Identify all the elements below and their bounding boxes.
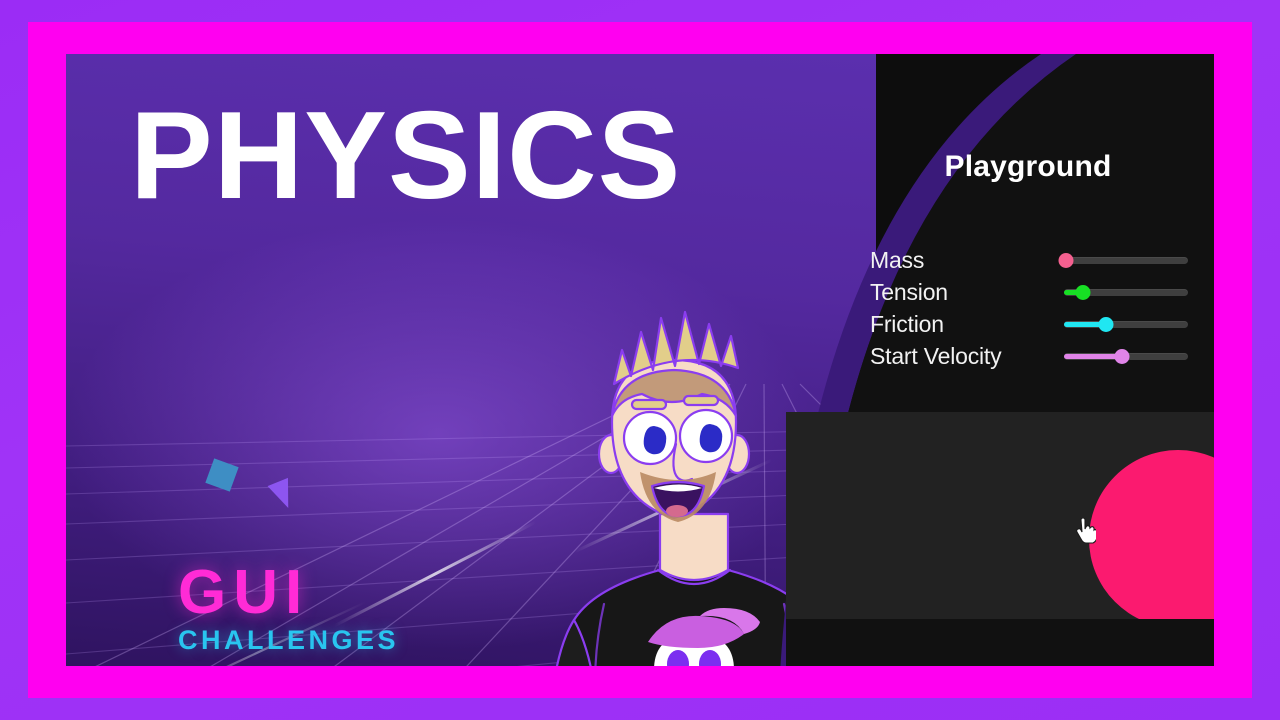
control-value-mass: 1: [1192, 246, 1214, 275]
logo-line-challenges: CHALLENGES: [178, 625, 399, 656]
slider-thumb-start-velocity[interactable]: [1115, 349, 1130, 364]
slider-start-velocity[interactable]: [1056, 340, 1192, 372]
control-value-friction: 28: [1192, 310, 1214, 339]
slider-thumb-tension[interactable]: [1075, 285, 1090, 300]
panel-title: Playground: [786, 150, 1214, 184]
slider-friction[interactable]: [1056, 308, 1192, 340]
slider-track-mass: [1064, 257, 1188, 264]
gui-challenges-logo: GUI CHALLENGES: [178, 564, 399, 656]
panel-bottom-strip: [786, 619, 1214, 666]
control-label-tension: Tension: [870, 279, 1056, 306]
screen-root: PHYSICS GUI CHALLENGES: [0, 0, 1280, 720]
control-label-start-velocity: Start Velocity: [870, 343, 1056, 370]
control-value-start-velocity: 40: [1192, 342, 1214, 371]
demo-canvas[interactable]: [786, 412, 1214, 619]
controls-list: Mass 1 Tension: [870, 244, 1214, 372]
control-row-friction: Friction 28: [870, 308, 1214, 340]
slider-thumb-friction[interactable]: [1099, 317, 1114, 332]
control-label-mass: Mass: [870, 247, 1056, 274]
slider-mass[interactable]: [1056, 244, 1192, 276]
control-label-friction: Friction: [870, 311, 1056, 338]
logo-line-gui: GUI: [178, 564, 399, 623]
hero-panel: PHYSICS GUI CHALLENGES: [66, 54, 876, 666]
physics-ball[interactable]: [1089, 450, 1214, 628]
page-title: PHYSICS: [130, 94, 681, 218]
control-row-tension: Tension 87: [870, 276, 1214, 308]
control-row-start-velocity: Start Velocity 40: [870, 340, 1214, 372]
hand-cursor: [1074, 518, 1096, 544]
slider-fill-start-velocity: [1064, 354, 1122, 359]
control-value-tension: 87: [1192, 278, 1214, 307]
slider-thumb-mass[interactable]: [1059, 253, 1074, 268]
control-row-mass: Mass 1: [870, 244, 1214, 276]
magenta-frame: PHYSICS GUI CHALLENGES: [28, 22, 1252, 698]
stage: PHYSICS GUI CHALLENGES: [66, 54, 1214, 666]
slider-tension[interactable]: [1056, 276, 1192, 308]
